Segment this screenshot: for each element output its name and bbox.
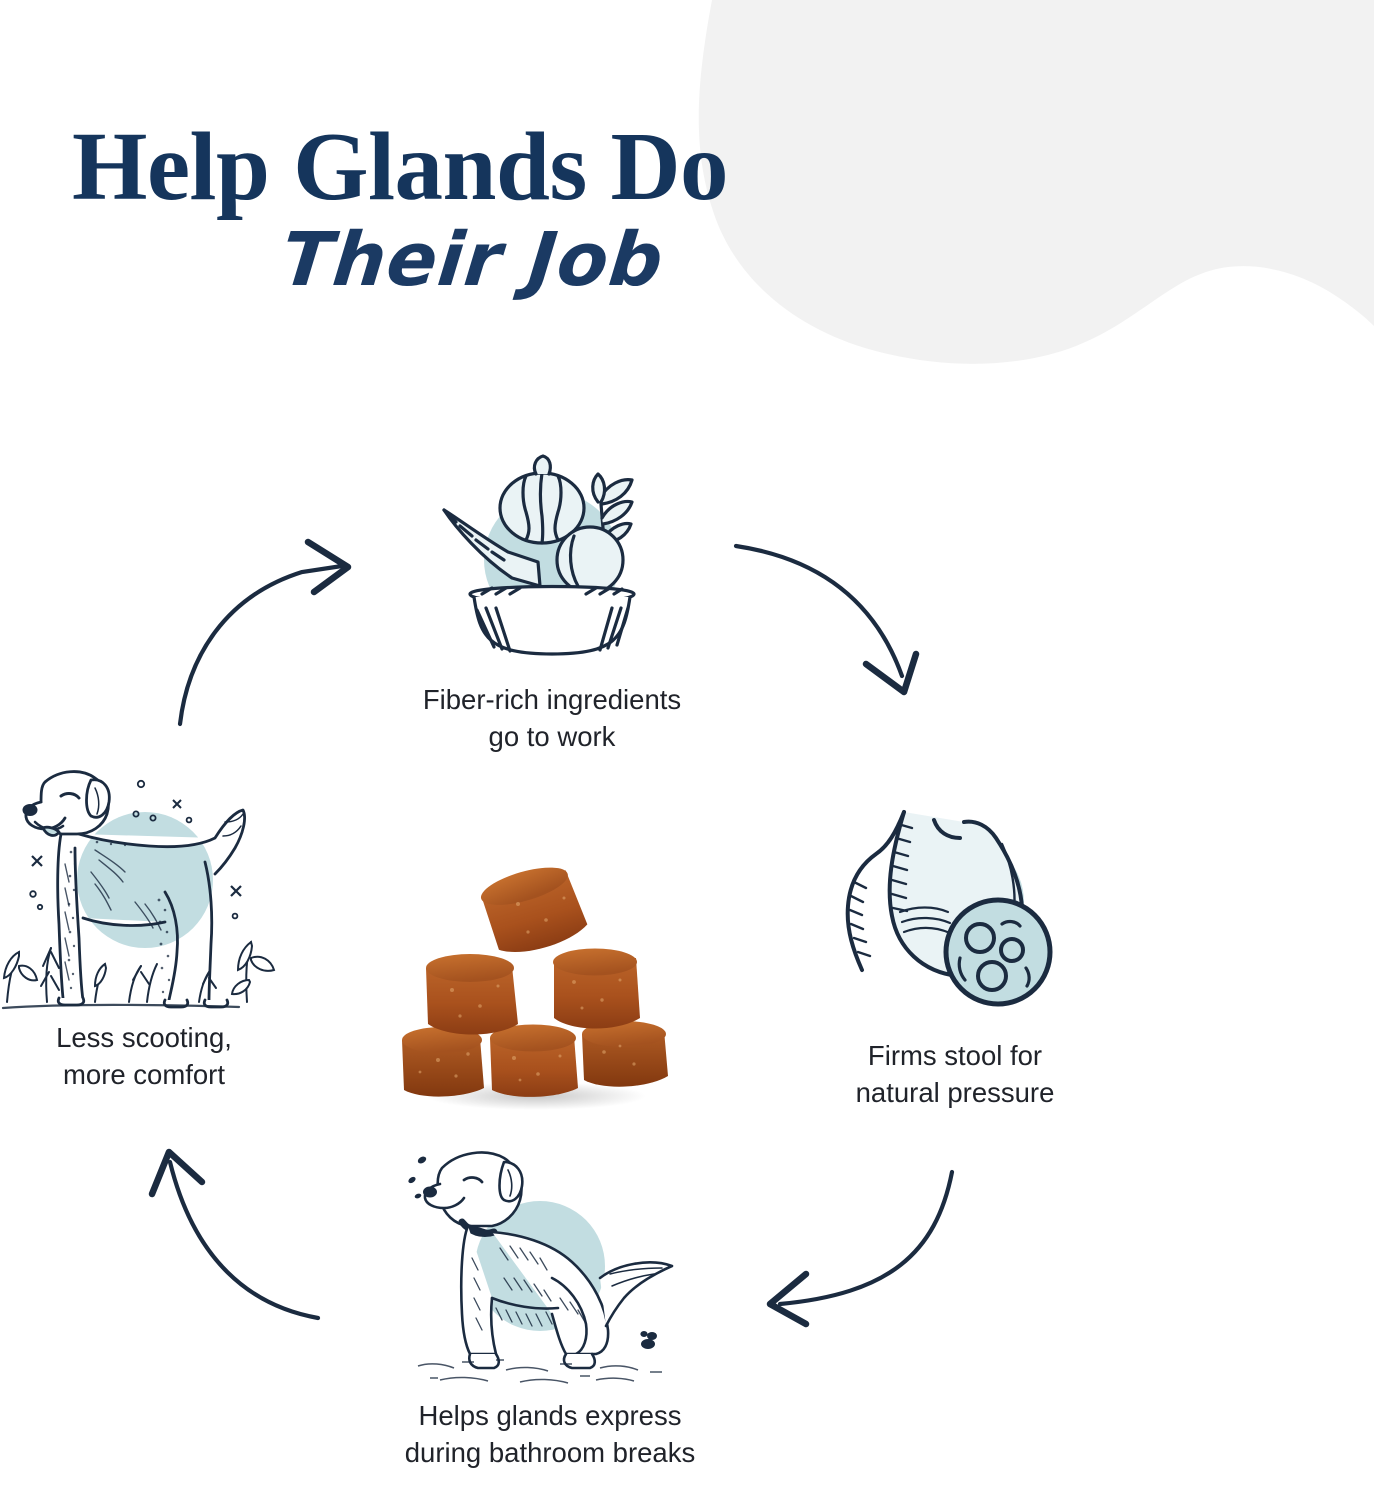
stool-icon bbox=[640, 1331, 657, 1349]
treat-piece bbox=[490, 1025, 578, 1097]
cycle-step-fiber-label: Fiber-rich ingredients go to work bbox=[423, 682, 681, 755]
treat-piece bbox=[582, 1021, 668, 1087]
ground-texture bbox=[418, 1360, 662, 1383]
cycle-step-express[interactable]: Helps glands express during bathroom bre… bbox=[340, 1138, 760, 1471]
dog-squatting-bathroom-icon bbox=[400, 1138, 700, 1388]
treat-piece bbox=[477, 859, 590, 961]
curved-arrow-up-left-icon bbox=[122, 1138, 354, 1342]
treat-piece bbox=[426, 954, 518, 1035]
headline-script-line: Their Job bbox=[278, 223, 1076, 297]
headline-main-line: Help Glands Do bbox=[72, 118, 1072, 217]
curved-arrow-up-right-icon bbox=[152, 528, 384, 750]
cycle-step-comfort[interactable]: Less scooting, more comfort bbox=[0, 752, 294, 1093]
grass-decoration bbox=[3, 942, 274, 1008]
cycle-step-firms-stool[interactable]: Firms stool for natural pressure bbox=[800, 790, 1110, 1111]
curved-arrow-down-right-icon bbox=[712, 516, 944, 700]
stomach-with-magnified-cells-icon bbox=[830, 790, 1080, 1016]
treat-piece bbox=[553, 949, 640, 1029]
treat-piece bbox=[402, 1027, 484, 1097]
cycle-step-express-label: Helps glands express during bathroom bre… bbox=[405, 1398, 695, 1471]
cycle-step-firms-stool-label: Firms stool for natural pressure bbox=[856, 1038, 1055, 1111]
headline-block: Help Glands Do Their Job bbox=[72, 118, 1072, 297]
dog-bowl-with-pumpkin-aloe-apple-icon bbox=[422, 442, 682, 674]
cycle-step-comfort-label: Less scooting, more comfort bbox=[56, 1020, 232, 1093]
infographic-canvas: Help Glands Do Their Job bbox=[0, 0, 1374, 1500]
curved-arrow-down-left-icon bbox=[740, 1158, 992, 1360]
stacked-soft-chew-treats-photo bbox=[368, 848, 698, 1116]
cycle-step-fiber[interactable]: Fiber-rich ingredients go to work bbox=[372, 442, 732, 755]
happy-standing-dog-in-grass-icon bbox=[0, 752, 289, 1014]
